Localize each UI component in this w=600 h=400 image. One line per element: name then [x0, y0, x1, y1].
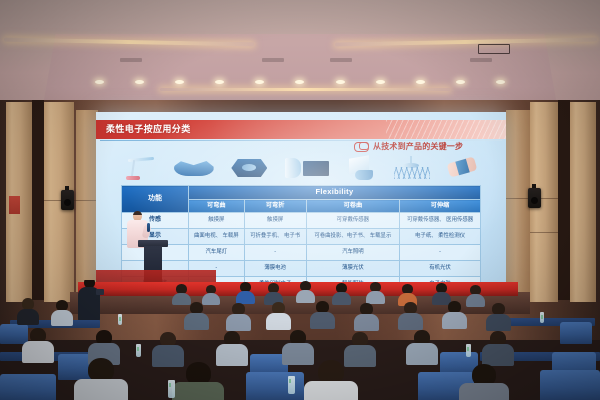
microphone-icon: [147, 223, 150, 232]
water-bottle: [466, 344, 471, 357]
conference-hall-photo: 柔性电子按应用分类 从技术到产品的关键一步 功能 Flexibility: [0, 0, 600, 400]
table-head: 功能 Flexibility 可弯曲 可弯折 可卷曲 可伸缩: [122, 186, 481, 213]
table-col-header-2: 可卷曲: [306, 200, 399, 213]
table-cell: 有机光伏: [400, 261, 481, 277]
wall-seam-right-2: [530, 232, 558, 233]
table-cell: 薄膜电池: [244, 261, 306, 277]
flexible-solar-thumb: [394, 156, 430, 180]
table-cell: 可穿戴传感器、 医用传感器: [400, 213, 481, 229]
table-group-header: Flexibility: [189, 186, 481, 200]
table-cell: 可折叠手机、 电子书: [244, 229, 306, 245]
table-cell: 可卷曲投影、电子书、 车载显示: [306, 229, 399, 245]
table-cell: 汽车尾灯: [189, 245, 245, 261]
table-cell: 电子纸、 柔性检测仪: [400, 229, 481, 245]
wall-panel-right: [506, 110, 530, 295]
water-bottle: [540, 312, 544, 323]
table-cell: 汽车照明: [306, 245, 399, 261]
table-col-header-0: 可弯曲: [189, 200, 245, 213]
ceiling-downlight-row: [95, 78, 505, 86]
flexible-lamp-thumb: [126, 156, 156, 180]
table-corner-header: 功能: [122, 186, 189, 213]
wall-speaker-left-icon: [61, 190, 74, 210]
rollable-tv-thumb: [285, 156, 329, 180]
wall-recess-right: [558, 100, 570, 300]
audience-area: [0, 280, 600, 400]
ceiling-vent-1: [120, 58, 142, 62]
hexagon-sensor-thumb: [231, 156, 267, 180]
wall-recess-left: [32, 100, 44, 300]
ceiling-vent-3: [330, 58, 352, 62]
chair: [560, 322, 592, 344]
table-row: 显示 曲面电视、 车载屏 可折叠手机、 电子书 可卷曲投影、电子书、 车载显示 …: [122, 229, 481, 245]
table-row: 传感 触摸屏 触摸屏 可穿戴传感器 可穿戴传感器、 医用传感器: [122, 213, 481, 229]
table-row: 照明 汽车尾灯 - 汽车照明 -: [122, 245, 481, 261]
water-bottle: [136, 344, 141, 357]
slide-title: 柔性电子按应用分类: [106, 122, 191, 137]
table-col-header-3: 可伸缩: [400, 200, 481, 213]
water-bottle: [118, 314, 122, 325]
wearable-band-thumb: [448, 156, 476, 180]
chair: [246, 372, 304, 400]
slide-thumbnail-strip: [126, 154, 476, 180]
table-cell: -: [244, 245, 306, 261]
wall-pillar-4: [570, 102, 596, 302]
wall-panel-left: [76, 110, 98, 295]
curved-display-thumb: [174, 156, 214, 180]
chair: [0, 324, 28, 344]
table-col-header-1: 可弯折: [244, 200, 306, 213]
table-cell: 触摸屏: [189, 213, 245, 229]
chair: [540, 370, 600, 400]
table-cell: 触摸屏: [244, 213, 306, 229]
ceiling-projector-mount: [478, 44, 510, 54]
chair: [0, 374, 56, 400]
cove-light-center: [160, 88, 450, 91]
table-cell: 曲面电视、 车载屏: [189, 229, 245, 245]
slide-tagline-group: 从技术到产品的关键一步: [354, 141, 463, 152]
ceiling-vent-4: [470, 58, 492, 62]
table-cell: 薄膜光伏: [306, 261, 399, 277]
wall-speaker-right-icon: [528, 188, 541, 208]
wall-red-sign: [9, 196, 20, 214]
slide-tagline: 从技术到产品的关键一步: [373, 141, 463, 152]
slide-decoration-lines: [386, 120, 506, 139]
water-bottle: [288, 376, 295, 394]
table-header-row-1: 功能 Flexibility: [122, 186, 481, 200]
ceiling-vent-2: [262, 58, 284, 62]
e-paper-thumb: [347, 156, 377, 180]
table-cell: -: [400, 245, 481, 261]
table-cell: 可穿戴传感器: [306, 213, 399, 229]
camera-icon: [96, 289, 104, 295]
water-bottle: [168, 380, 175, 398]
chain-link-logo-icon: [354, 142, 369, 152]
